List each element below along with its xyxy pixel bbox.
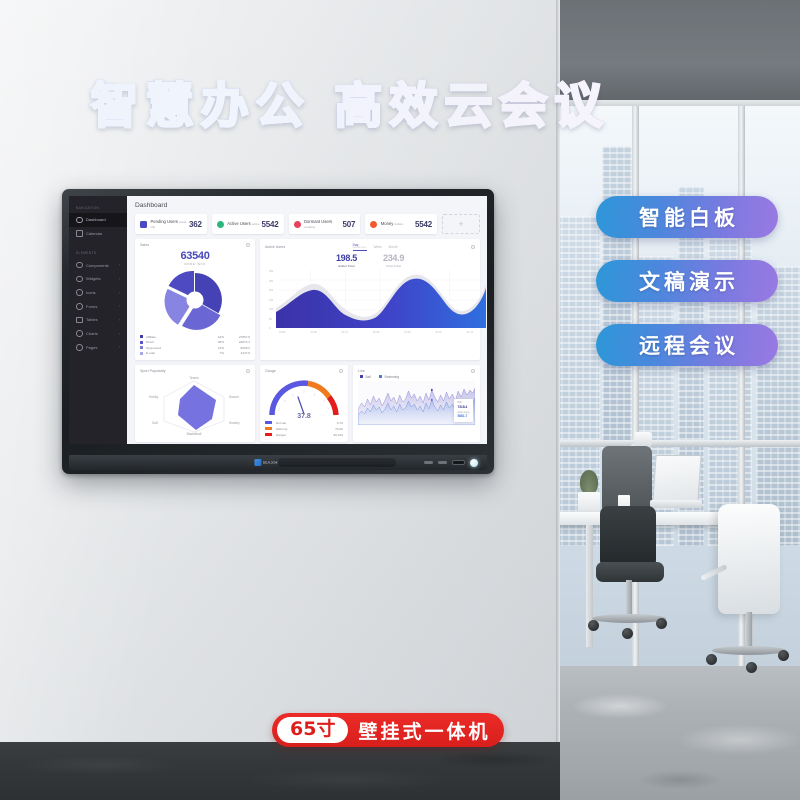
legend-range: 70-90 (335, 427, 343, 431)
sidebar-item-label: Tables (86, 317, 98, 322)
calendar-icon (76, 230, 83, 237)
stat-value: 5542 (415, 220, 432, 229)
chevron-right-icon: › (119, 345, 120, 349)
card-title: Line (358, 369, 365, 373)
card-title: Gauge (265, 369, 276, 373)
feature-pill-smart-whiteboard[interactable]: 智能白板 (596, 196, 778, 238)
sidebar-section-caption: NAVIGATION (69, 202, 127, 213)
product-size-label: 65寸 (277, 717, 348, 743)
chevron-right-icon: › (119, 332, 120, 336)
stat-card-active-users[interactable]: Active Users active 5542 (212, 214, 284, 234)
tooltip-value: 5881.7 (458, 414, 470, 419)
card-title: Sales (140, 243, 149, 247)
legend-swatch (140, 346, 143, 349)
stat-card-money[interactable]: Money dollars 5542 (365, 214, 437, 234)
chair-caster (706, 654, 717, 665)
legend-swatch (140, 335, 143, 338)
card-header: Active Users Day DASHBOARD Week Month (265, 243, 475, 251)
port-cluster (424, 459, 478, 467)
pending-users-icon (140, 221, 147, 228)
legend-label: Swimming (384, 375, 399, 379)
stat-label: Pending Users (151, 219, 178, 224)
legend-amount: 4447.8 (224, 351, 250, 355)
stat-label: Money (381, 221, 394, 226)
metric-value: 234.9 (383, 253, 404, 263)
line-card: Line Ball Swimming (353, 365, 480, 442)
y-axis: 300250 200150 10050 0 (269, 270, 273, 330)
card-header: Sport Popularity (140, 369, 250, 373)
gear-icon[interactable] (471, 245, 475, 249)
white-chair-post (746, 612, 752, 650)
legend-swatch (265, 433, 272, 436)
stat-label: Dormant Users (304, 219, 332, 224)
dormant-users-heart-icon (294, 221, 301, 228)
stat-label-block: Pending Users Await Ofp (151, 219, 190, 230)
svg-text:Golf: Golf (152, 421, 158, 425)
legend-percent: 13% (208, 346, 224, 350)
right-floor (560, 666, 800, 800)
white-chair-base (712, 646, 786, 655)
legend-swatch (360, 375, 363, 378)
gauge-chart: 37.8 (265, 375, 343, 418)
legend-label: Sponsored (146, 346, 208, 350)
money-icon (370, 221, 377, 228)
chevron-right-icon: › (119, 318, 120, 322)
product-type-label: 壁挂式一体机 (358, 717, 490, 744)
legend-swatch (140, 341, 143, 344)
metric-flow-total: 234.9 Flow Total (383, 253, 404, 268)
legend-row: E-mail 7% 4447.8 (140, 350, 250, 355)
legend-item-swimming[interactable]: Swimming (379, 375, 399, 379)
active-users-card: Active Users Day DASHBOARD Week Month (260, 239, 480, 360)
product-badge: 65寸 壁挂式一体机 (272, 713, 504, 747)
white-chair-back (718, 504, 780, 614)
legend-swatch (265, 427, 272, 430)
stat-sublabel: dollars (395, 222, 404, 226)
sales-card: Sales 63540 MORE INFO (135, 239, 255, 360)
sidebar-item-label: Forms (86, 304, 97, 309)
tab-week[interactable]: Week (374, 245, 382, 249)
stat-value: 507 (343, 220, 356, 229)
brand-logo-mark (254, 459, 261, 466)
active-users-metrics: 198.5 Bullet Total 234.9 Flow Total (265, 253, 475, 268)
sales-donut-chart (140, 268, 250, 333)
feature-pill-remote-meeting[interactable]: 远程会议 (596, 324, 778, 366)
card-header: Line (358, 369, 475, 373)
legend-amount: 22874.4 (224, 340, 250, 344)
gauge-value: 37.8 (297, 413, 311, 420)
legend-percent: 7% (208, 351, 224, 355)
stat-value: 362 (189, 220, 202, 229)
sales-total: 63540 (140, 250, 250, 262)
gear-icon[interactable] (339, 369, 343, 373)
chair-caster (656, 618, 667, 629)
stat-sublabel: undefine (304, 225, 315, 229)
form-icon (76, 303, 83, 310)
legend-percent: 38% (208, 340, 224, 344)
metric-label: Bullet Total (338, 264, 354, 268)
sales-subtitle: MORE INFO (140, 262, 250, 266)
chevron-right-icon: › (119, 291, 120, 295)
sidebar: NAVIGATION Dashboard Calendar ELEMENTS C… (69, 196, 127, 444)
card-header: Gauge (265, 369, 343, 373)
stat-label-block: Active Users active (227, 221, 259, 227)
legend-row: Danger 90-100 (265, 432, 343, 438)
display-screen[interactable]: NAVIGATION Dashboard Calendar ELEMENTS C… (69, 196, 487, 444)
svg-text:Soccer: Soccer (229, 395, 240, 399)
sidebar-item-label: Dashboard (86, 217, 106, 222)
sidebar-item-widgets[interactable]: Widgets › (69, 272, 127, 286)
card-title: Active Users (265, 245, 285, 249)
table-icon (76, 317, 83, 324)
stat-sublabel: active (252, 222, 260, 226)
dark-chair-back (600, 506, 656, 568)
gauge-legend: Normal 0-70 Warning 70-90 (265, 420, 343, 438)
chair-caster (778, 650, 789, 661)
plant-foliage (580, 470, 598, 494)
feature-pill-label: 智能白板 (635, 202, 739, 232)
chair-caster (746, 662, 757, 673)
legend-label: Affiliate (146, 335, 208, 339)
left-floor (0, 742, 560, 800)
sidebar-item-components[interactable]: Components › (69, 258, 127, 272)
legend-percent: 44% (208, 335, 224, 339)
x-axis: 01-0501-06 01-0701-08 01-0901-10 01-11 (265, 330, 475, 334)
stat-card-pending-users[interactable]: Pending Users Await Ofp 362 (135, 214, 207, 234)
gear-icon[interactable] (246, 369, 250, 373)
chair-caster (622, 628, 633, 639)
sidebar-item-pages[interactable]: Pages › (69, 341, 127, 355)
legend-label: Direct (146, 340, 208, 344)
sport-popularity-card: Sport Popularity Tennis Soccer (135, 365, 255, 442)
svg-text:Tennis: Tennis (189, 376, 199, 380)
legend-row: Direct 38% 22874.4 (140, 340, 250, 345)
dashboard-main: Dashboard Pending Users Await Ofp 362 (127, 196, 487, 444)
legend-row: Sponsored 13% 8060.2 (140, 345, 250, 350)
page-icon (76, 344, 83, 351)
metric-value: 198.5 (336, 253, 357, 263)
feature-pill-document-presentation[interactable]: 文稿演示 (596, 260, 778, 302)
card-header: Sales (140, 243, 250, 247)
legend-amount: 27857.8 (224, 335, 250, 339)
stat-label-block: Money dollars (381, 221, 403, 227)
wall-mounted-display: NAVIGATION Dashboard Calendar ELEMENTS C… (62, 189, 494, 474)
sport-radar-chart: Tennis Soccer Hockey Basketball Golf Hob… (140, 375, 250, 436)
sidebar-item-charts[interactable]: Charts › (69, 327, 127, 341)
add-card-button[interactable]: + (442, 214, 480, 234)
sidebar-item-label: Components (86, 263, 109, 268)
plant-pot (578, 492, 600, 514)
tooltip-value: 7318.4 (458, 405, 470, 410)
stat-card-row: Pending Users Await Ofp 362 Active Users… (135, 214, 480, 234)
legend-amount: 8060.2 (224, 346, 250, 350)
dashboard-app: NAVIGATION Dashboard Calendar ELEMENTS C… (69, 196, 487, 444)
gear-icon[interactable] (471, 369, 475, 373)
legend-item-ball[interactable]: Ball (360, 375, 371, 379)
chevron-right-icon: › (119, 304, 120, 308)
metric-bullet-total: 198.5 Bullet Total (336, 253, 357, 268)
sidebar-item-label: Charts (86, 331, 98, 336)
chevron-right-icon: › (119, 263, 120, 267)
active-users-icon (217, 221, 224, 228)
period-tabs: Day DASHBOARD Week Month (353, 243, 404, 251)
tab-day[interactable]: Day DASHBOARD (353, 243, 367, 251)
power-button[interactable] (470, 459, 478, 467)
window-rail (560, 440, 800, 447)
card-title: Sport Popularity (140, 369, 166, 373)
window-mullion (632, 106, 639, 666)
sidebar-item-dashboard[interactable]: Dashboard (69, 213, 127, 227)
svg-text:Hockey: Hockey (229, 421, 240, 425)
grid-icon (76, 262, 83, 269)
star-icon (76, 289, 83, 296)
line-chart: Ball 7318.4 Swimming 5881.7 (358, 381, 475, 425)
stat-label: Active Users (227, 221, 251, 226)
legend-label: Danger (276, 433, 286, 437)
legend-swatch (140, 352, 143, 355)
sidebar-item-label: Pages (86, 345, 97, 350)
dark-chair-seat (596, 562, 664, 582)
chair-caster (588, 620, 599, 631)
legend-range: 90-100 (333, 433, 343, 437)
sidebar-item-calendar[interactable]: Calendar (69, 227, 127, 241)
speaker-grille (278, 458, 396, 467)
laptop-screen (652, 455, 701, 502)
legend-label: E-mail (146, 351, 208, 355)
sidebar-item-icons[interactable]: Icons › (69, 286, 127, 300)
metric-label: Flow Total (386, 264, 401, 268)
dashboard-row-2: Sales 63540 MORE INFO (135, 239, 480, 360)
usb-port-icon[interactable] (424, 461, 433, 465)
tab-month[interactable]: Month (389, 245, 398, 249)
line-legend: Ball Swimming (360, 375, 475, 379)
legend-label: Warning (276, 427, 287, 431)
stat-value: 5542 (262, 220, 279, 229)
chart-icon (76, 330, 83, 337)
legend-label: Normal (276, 421, 286, 425)
usb-port-icon[interactable] (438, 461, 447, 465)
display-chin-bar: MAXHUB (69, 455, 487, 470)
hdmi-port-icon[interactable] (452, 460, 465, 465)
dashboard-row-3: Sport Popularity Tennis Soccer (135, 365, 480, 442)
feature-pill-label: 远程会议 (635, 330, 739, 360)
stat-label-block: Dormant Users undefine (304, 219, 343, 230)
gear-icon[interactable] (246, 243, 250, 247)
dark-chair-base (592, 614, 666, 623)
sidebar-item-label: Icons (86, 290, 96, 295)
legend-swatch (379, 375, 382, 378)
legend-swatch (265, 421, 272, 424)
active-users-area-chart: 300250 200150 10050 0 (265, 270, 475, 334)
sidebar-section-caption: ELEMENTS (69, 247, 127, 258)
poster-canvas: 智慧办公 高效云会议 智慧办公 高效云会议 智能白板 文稿演示 远程会议 65寸… (0, 0, 800, 800)
svg-text:Basketball: Basketball (187, 432, 202, 435)
stat-card-dormant-users[interactable]: Dormant Users undefine 507 (289, 214, 361, 234)
chevron-right-icon: › (119, 277, 120, 281)
sidebar-item-tables[interactable]: Tables › (69, 313, 127, 327)
widget-icon (76, 276, 83, 283)
sales-legend: Affiliate 44% 27857.8 Direct 38% 22874.4 (140, 334, 250, 356)
gauge-card: Gauge (260, 365, 348, 442)
sidebar-item-forms[interactable]: Forms › (69, 299, 127, 313)
laptop-keyboard (650, 500, 702, 508)
legend-range: 0-70 (337, 421, 343, 425)
legend-label: Ball (366, 375, 371, 379)
sidebar-item-label: Widgets (86, 276, 100, 281)
dark-chair-post (626, 580, 632, 618)
page-headline: 智慧办公 高效云会议 (0, 66, 700, 136)
legend-row: Affiliate 44% 27857.8 (140, 334, 250, 339)
feature-pill-label: 文稿演示 (635, 266, 739, 296)
chart-tooltip: Ball 7318.4 Swimming 5881.7 (454, 399, 473, 422)
sidebar-item-label: Calendar (86, 231, 102, 236)
svg-text:Hobby: Hobby (149, 395, 159, 399)
page-title: Dashboard (135, 202, 480, 209)
home-icon (76, 217, 83, 224)
tab-sublabel: DASHBOARD (353, 247, 367, 249)
